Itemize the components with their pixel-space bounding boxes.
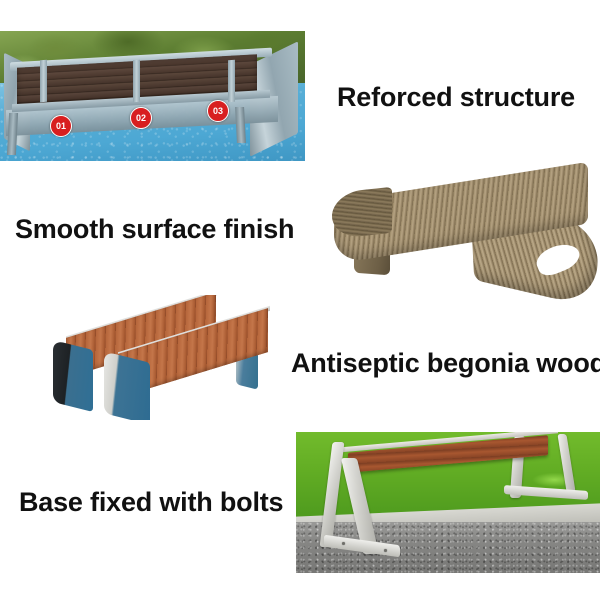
callout-badge-02: 02 <box>130 107 152 129</box>
bench-back-near-leg <box>53 340 93 412</box>
bench-support-post <box>235 107 246 143</box>
anchor-bolt-icon <box>342 542 345 545</box>
photo-steel-leg-bench <box>296 432 600 573</box>
bench-rolled-front-edge <box>332 187 392 239</box>
anchor-bolt-icon <box>384 549 387 552</box>
bench-support-post <box>7 113 18 155</box>
photo-slatted-bench <box>322 160 600 305</box>
caption-antiseptic-begonia-wood: Antiseptic begonia wood <box>291 348 600 379</box>
caption-smooth-surface-finish: Smooth surface finish <box>15 214 294 245</box>
callout-badge-03: 03 <box>207 100 229 122</box>
collage-canvas: 01 02 03 Reforced structure Smooth surfa… <box>0 0 600 600</box>
caption-reforced-structure: Reforced structure <box>337 82 575 113</box>
photo-outdoor-bench: 01 02 03 <box>0 31 305 161</box>
callout-badge-01: 01 <box>50 115 72 137</box>
photo-twin-benches <box>40 295 270 420</box>
bench-back-divider <box>133 60 140 102</box>
bench-front-near-leg <box>104 351 150 420</box>
bench-back-divider <box>228 60 235 102</box>
bench-back-divider <box>40 60 47 102</box>
caption-base-fixed-with-bolts: Base fixed with bolts <box>19 487 283 518</box>
bench-structure <box>0 31 305 161</box>
